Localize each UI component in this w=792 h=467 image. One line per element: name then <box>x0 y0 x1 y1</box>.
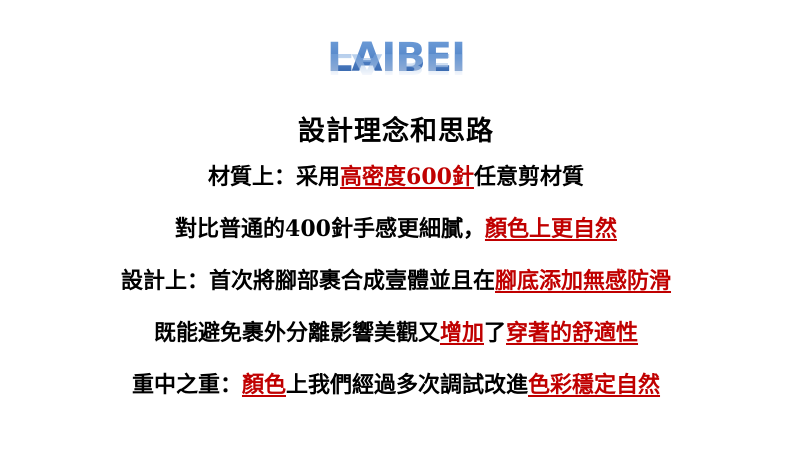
presentation-slide: LAIBEILAIBEI 設計理念和思路 材質上：采用高密度600針任意剪材質 … <box>0 0 792 467</box>
body-line-compare: 對比普通的400針手感更細膩，顏色上更自然 <box>0 218 792 244</box>
brand-logo-text: LAIBEILAIBEI <box>327 38 465 78</box>
line-color-segment-1: 顏色 <box>242 372 286 398</box>
line-comfort-segment-0: 既能避免裹外分離影響美觀又 <box>154 320 440 346</box>
body-line-material: 材質上：采用高密度600針任意剪材質 <box>0 166 792 192</box>
slide-title: 設計理念和思路 <box>0 117 792 147</box>
line-comfort-segment-3: 穿著的舒適性 <box>506 320 638 346</box>
line-color-segment-0: 重中之重： <box>132 372 242 398</box>
line-design-segment-1: 腳底添加無感防滑 <box>495 268 671 294</box>
line-material-segment-1: 高密度600針 <box>340 164 474 190</box>
body-line-design: 設計上：首次將腳部裹合成壹體並且在腳底添加無感防滑 <box>0 270 792 296</box>
line-compare-segment-0: 對比普通的400針手感更細膩， <box>175 216 485 242</box>
brand-logo: LAIBEILAIBEI <box>0 38 792 78</box>
slide-body: 材質上：采用高密度600針任意剪材質 對比普通的400針手感更細膩，顏色上更自然… <box>0 166 792 400</box>
line-design-segment-0: 設計上：首次將腳部裹合成壹體並且在 <box>121 268 495 294</box>
line-color-segment-2: 上我們經過多次調試改進 <box>286 372 528 398</box>
body-line-color: 重中之重：顏色上我們經過多次調試改進色彩穩定自然 <box>0 374 792 400</box>
line-comfort-segment-2: 了 <box>484 320 506 346</box>
line-comfort-segment-1: 增加 <box>440 320 484 346</box>
line-material-segment-0: 材質上：采用 <box>208 164 340 190</box>
body-line-comfort: 既能避免裹外分離影響美觀又增加了穿著的舒適性 <box>0 322 792 348</box>
line-material-segment-2: 任意剪材質 <box>474 164 584 190</box>
line-color-segment-3: 色彩穩定自然 <box>528 372 660 398</box>
brand-logo-reflection: LAIBEI <box>327 49 465 78</box>
line-compare-segment-1: 顏色上更自然 <box>485 216 617 242</box>
